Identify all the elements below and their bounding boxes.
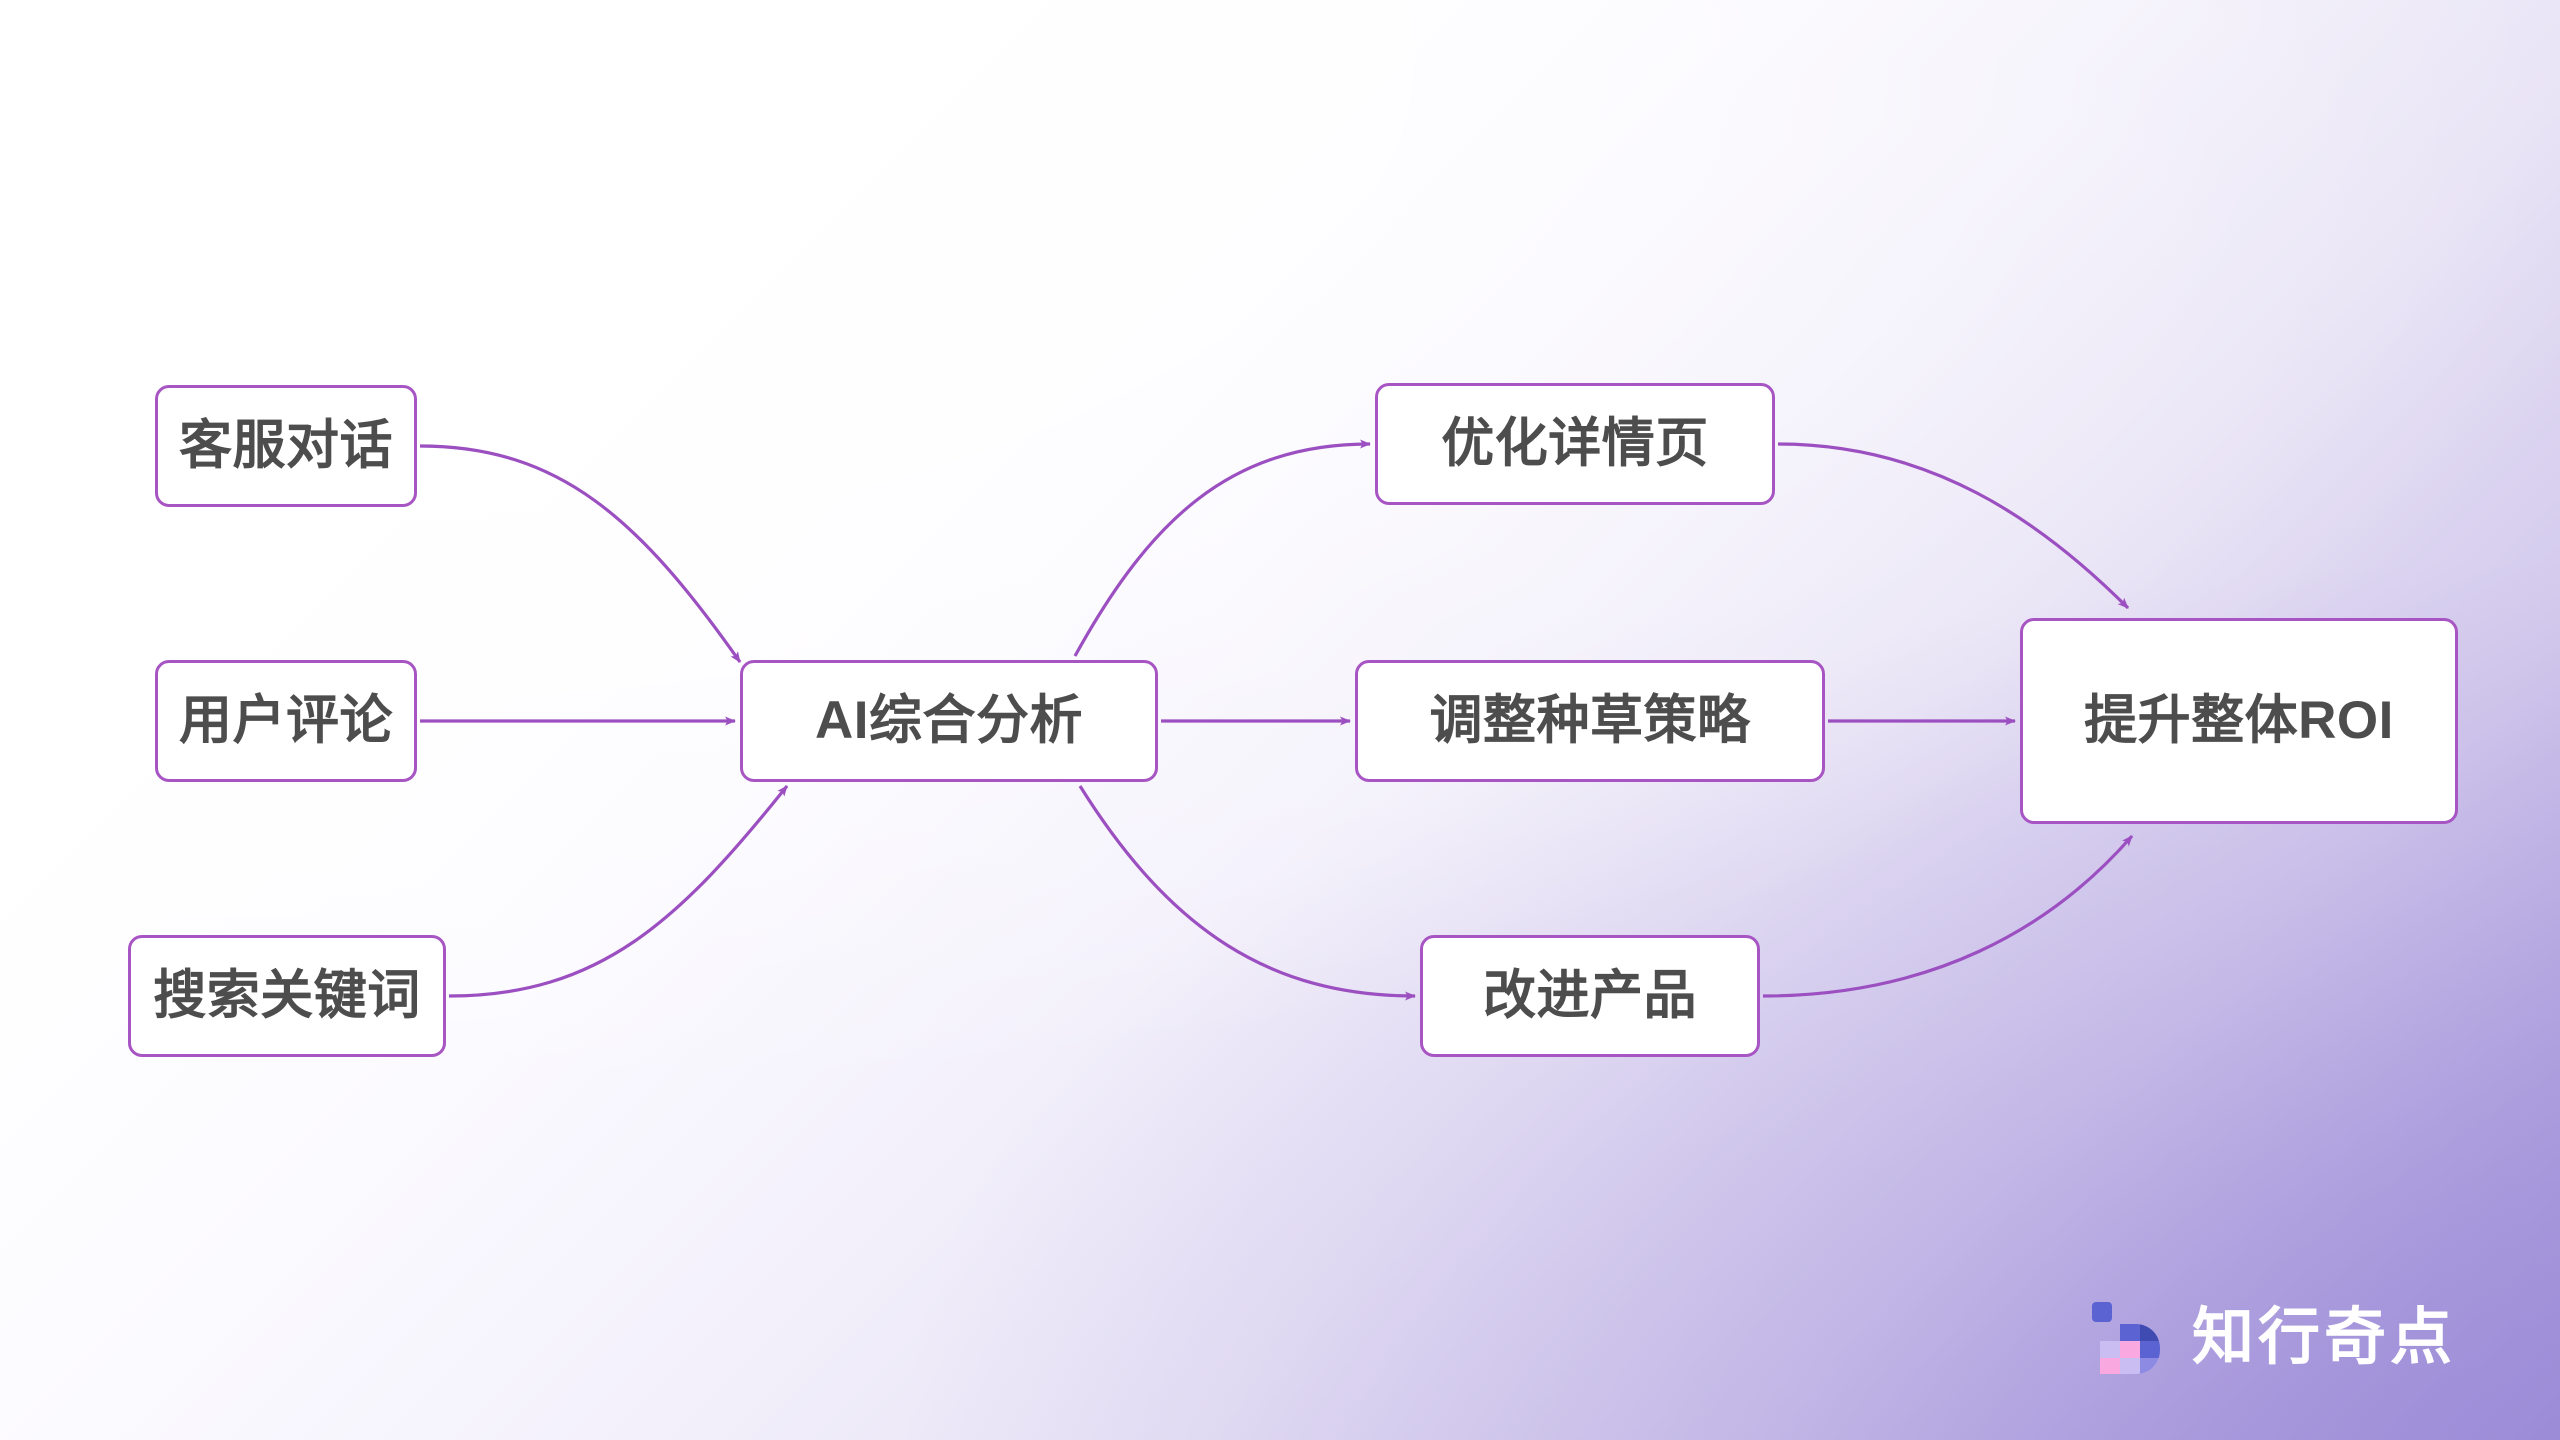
node-user-reviews-label: 用户评论: [179, 691, 393, 752]
node-search-keywords[interactable]: 搜索关键词: [128, 935, 446, 1057]
brand-name: 知行奇点: [2192, 1307, 2456, 1369]
brand-logo-icon: [2090, 1300, 2166, 1376]
node-user-reviews[interactable]: 用户评论: [155, 660, 417, 782]
watermark: 知行奇点: [2090, 1300, 2456, 1376]
diagram-canvas: 客服对话 用户评论 搜索关键词 AI综合分析 优化详情页 调整种草策略 改进产品…: [0, 0, 2560, 1440]
node-improve-product[interactable]: 改进产品: [1420, 935, 1760, 1057]
node-ai-analysis[interactable]: AI综合分析: [740, 660, 1158, 782]
node-optimize-detail-page-label: 优化详情页: [1441, 414, 1709, 475]
edge-search-keywords-to-ai: [449, 786, 787, 996]
edge-ai-to-optimize-detail-page: [1075, 444, 1370, 656]
node-optimize-detail-page[interactable]: 优化详情页: [1375, 383, 1775, 505]
node-adjust-seeding-strategy-label: 调整种草策略: [1430, 691, 1751, 752]
node-improve-product-label: 改进产品: [1483, 966, 1697, 1027]
node-customer-service-label: 客服对话: [179, 416, 393, 477]
node-increase-overall-roi-label: 提升整体ROI: [2084, 691, 2394, 752]
node-search-keywords-label: 搜索关键词: [153, 966, 421, 1027]
node-adjust-seeding-strategy[interactable]: 调整种草策略: [1355, 660, 1825, 782]
edge-improve-product-to-roi: [1763, 836, 2132, 996]
edge-customer-service-to-ai: [420, 446, 740, 662]
node-customer-service[interactable]: 客服对话: [155, 385, 417, 507]
node-ai-analysis-label: AI综合分析: [815, 691, 1083, 752]
edge-optimize-detail-page-to-roi: [1778, 444, 2128, 608]
node-increase-overall-roi[interactable]: 提升整体ROI: [2020, 618, 2458, 824]
edge-ai-to-improve-product: [1080, 786, 1415, 996]
